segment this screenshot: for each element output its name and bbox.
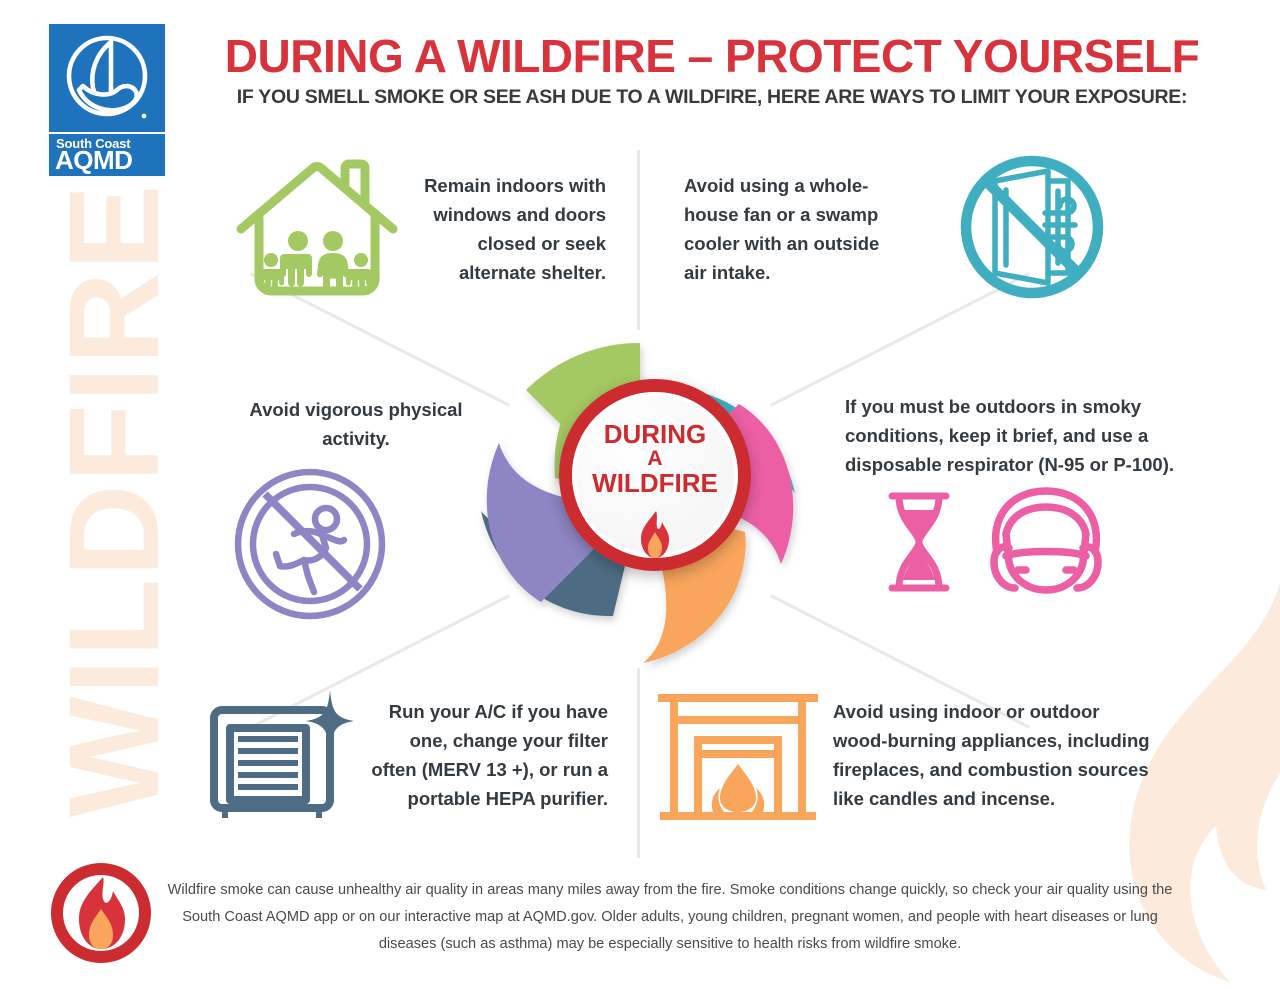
center-badge: DURING A WILDFIRE <box>559 379 751 571</box>
no-running-icon <box>234 468 386 620</box>
divider-bottom-vertical <box>637 668 640 858</box>
flame-badge-icon <box>47 859 155 967</box>
fireplace-icon <box>658 688 818 826</box>
infographic-canvas: WILDFIRE South Coast AQMD DURING A WILDF… <box>0 0 1280 989</box>
no-open-door-air-intake-icon <box>950 155 1115 305</box>
air-filter-sparkle-icon <box>202 688 357 820</box>
center-line-3: WILDFIRE <box>572 470 738 496</box>
aqmd-dove-logo-icon <box>49 24 165 132</box>
house-with-family-icon <box>233 156 401 301</box>
aqmd-logo-wordmark: South Coast AQMD <box>49 134 165 176</box>
section-text-avoid-wood-burning: Avoid using indoor or outdoor wood-burni… <box>833 697 1153 813</box>
flame-icon <box>635 510 675 560</box>
center-line-2: A <box>572 447 738 470</box>
footer-disclaimer: Wildfire smoke can cause unhealthy air q… <box>165 877 1175 958</box>
logo-line-2: AQMD <box>55 147 132 173</box>
section-text-avoid-whole-house-fan: Avoid using a whole-house fan or a swamp… <box>684 171 902 287</box>
section-text-outdoors-respirator: If you must be outdoors in smoky conditi… <box>845 392 1195 479</box>
center-badge-text: DURING A WILDFIRE <box>572 421 738 496</box>
center-line-1: DURING <box>572 421 738 447</box>
page-title: DURING A WILDFIRE – PROTECT YOURSELF <box>172 31 1252 81</box>
section-text-remain-indoors: Remain indoors with windows and doors cl… <box>396 171 606 287</box>
face-with-respirator-mask-icon <box>982 482 1110 602</box>
divider-top-vertical <box>637 150 640 330</box>
hourglass-icon <box>884 490 954 594</box>
aqmd-logo: South Coast AQMD <box>49 24 165 176</box>
page-subtitle: IF YOU SMELL SMOKE OR SEE ASH DUE TO A W… <box>172 86 1252 108</box>
section-text-avoid-vigorous-activity: Avoid vigorous physical activity. <box>245 395 467 453</box>
section-text-run-ac-hepa: Run your A/C if you have one, change you… <box>366 697 608 813</box>
wildfire-watermark-text: WILDFIRE <box>45 170 185 830</box>
